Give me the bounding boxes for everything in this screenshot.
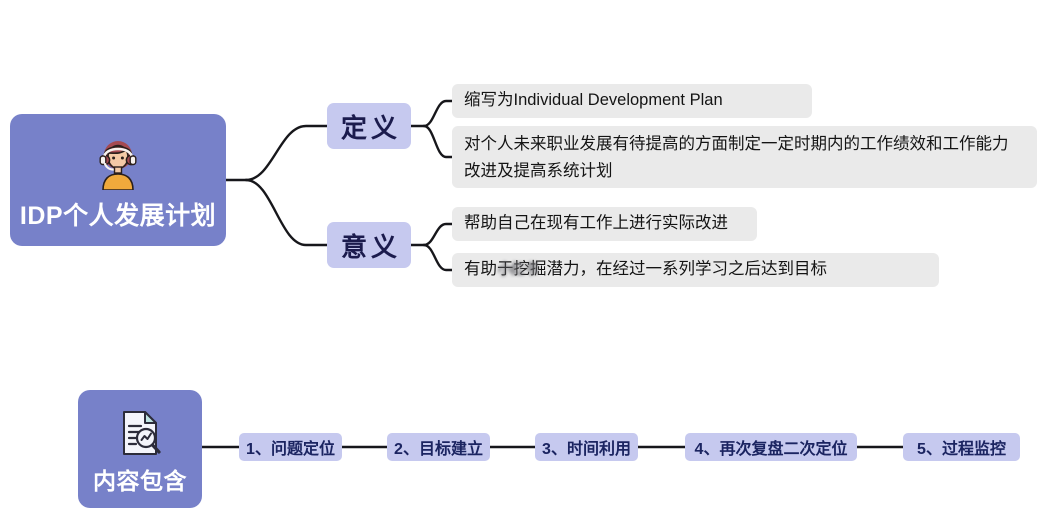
branch-node-yiyi[interactable]: 意义	[327, 222, 411, 268]
connector-root-to-yiyi	[246, 180, 327, 245]
step-chip-2[interactable]: 2、目标建立	[387, 433, 490, 461]
person-headset-icon	[95, 138, 141, 195]
branch-node-dingyi[interactable]: 定义	[327, 103, 411, 149]
connector-yiyi-to-leaf2	[424, 245, 452, 270]
root-node-idp[interactable]: IDP个人发展计划	[10, 114, 226, 246]
connector-dingyi-to-leaf2	[424, 126, 452, 157]
root-node-content[interactable]: 内容包含	[78, 390, 202, 508]
branch-node-yiyi-label: 意义	[337, 227, 401, 264]
connector-yiyi-to-leaf1	[424, 224, 452, 245]
step-chip-3[interactable]: 3、时间利用	[535, 433, 638, 461]
mindmap-canvas: IDP个人发展计划 定义 缩写为Individual Development P…	[0, 0, 1049, 500]
step-chip-4[interactable]: 4、再次复盘二次定位	[685, 433, 857, 461]
document-search-icon	[118, 409, 162, 462]
step-chip-1[interactable]: 1、问题定位	[239, 433, 342, 461]
leaf-dingyi-abbreviation[interactable]: 缩写为Individual Development Plan	[452, 84, 812, 118]
connector-dingyi-to-leaf1	[424, 101, 452, 126]
root-node-content-label: 内容包含	[93, 470, 187, 493]
leaf-yiyi-potential[interactable]: 有助于挖掘潜力，在经过一系列学习之后达到目标	[452, 253, 939, 287]
leaf-dingyi-description[interactable]: 对个人未来职业发展有待提高的方面制定一定时期内的工作绩效和工作能力改进及提高系统…	[452, 126, 1037, 188]
root-node-idp-label: IDP个人发展计划	[20, 204, 216, 229]
step-chip-5[interactable]: 5、过程监控	[903, 433, 1020, 461]
connector-root-to-dingyi	[246, 126, 327, 180]
leaf-yiyi-improvement[interactable]: 帮助自己在现有工作上进行实际改进	[452, 207, 757, 241]
branch-node-dingyi-label: 定义	[337, 108, 401, 145]
